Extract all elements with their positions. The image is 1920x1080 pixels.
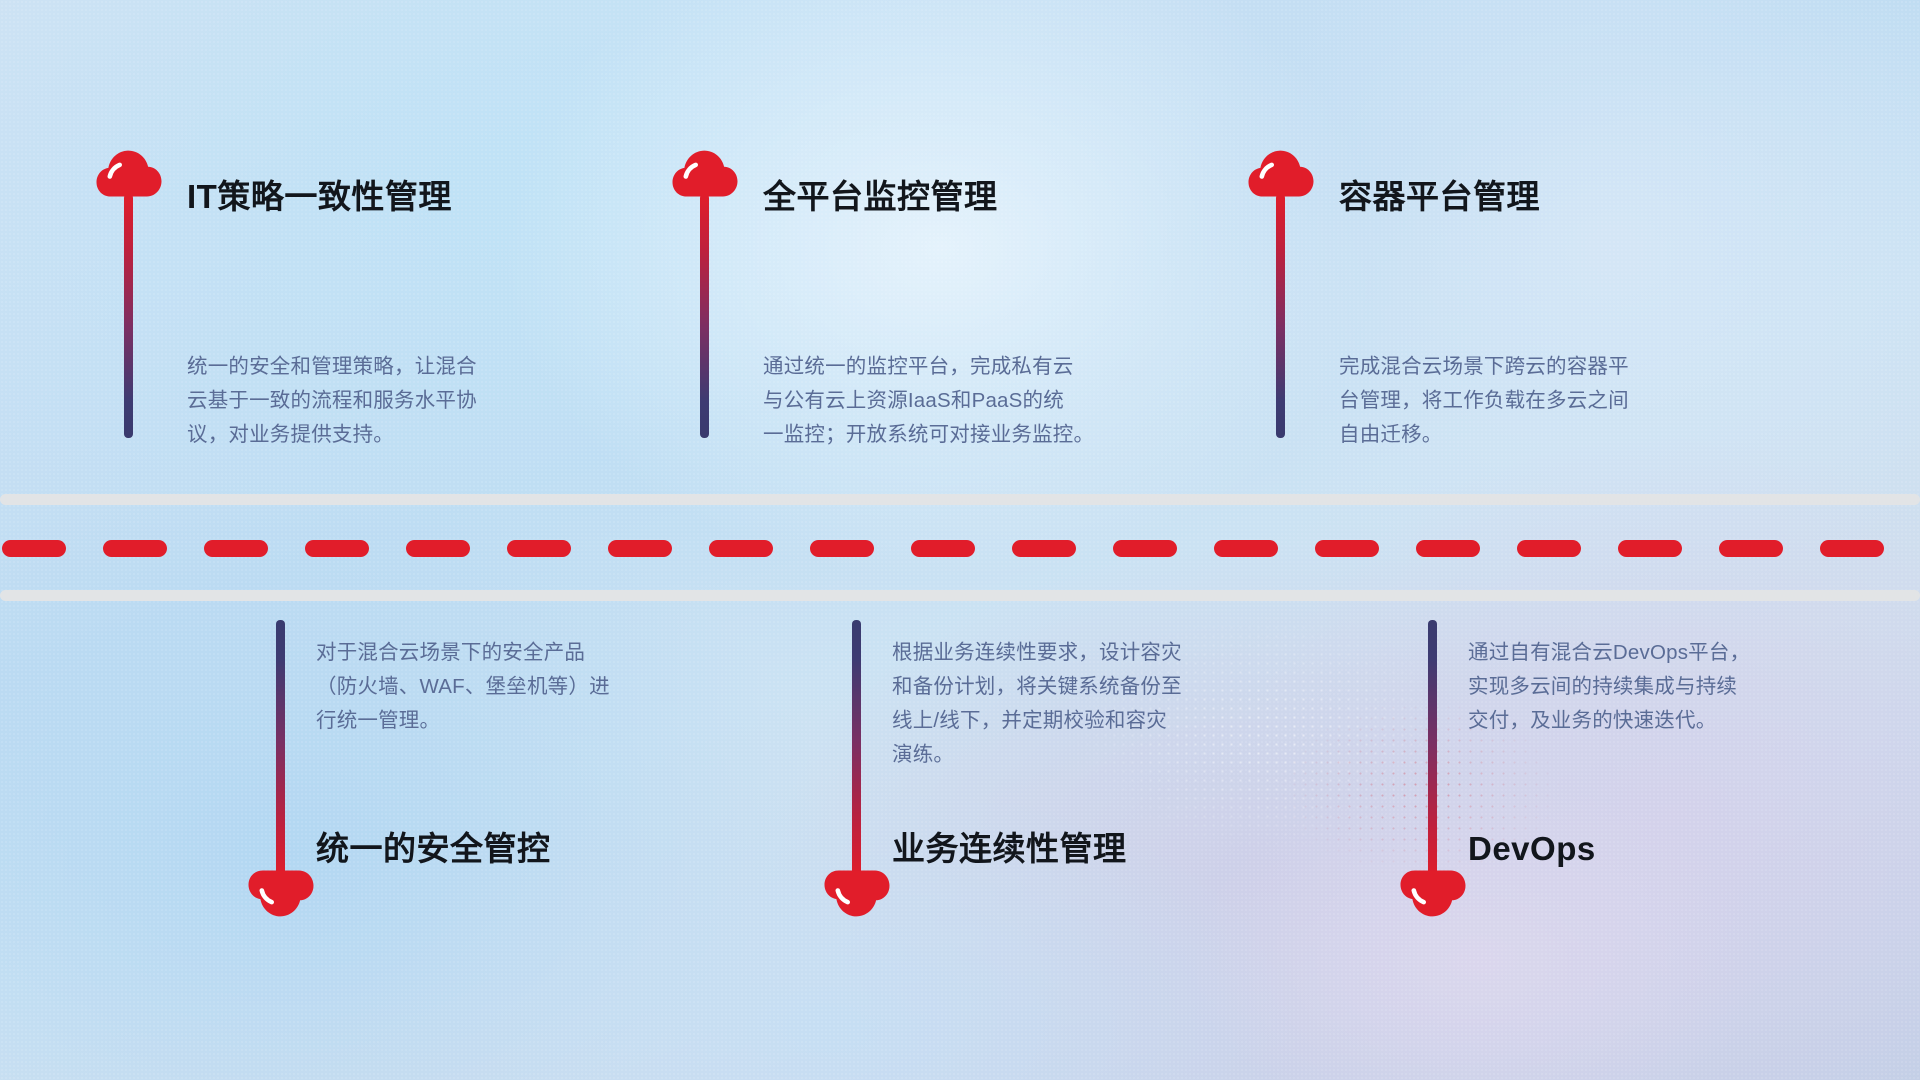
- connector-stem: [852, 620, 861, 878]
- road-dash: [103, 540, 167, 557]
- connector-stem: [700, 194, 709, 438]
- card-body: 统一的安全和管理策略，让混合 云基于一致的流程和服务水平协 议，对业务提供支持。: [187, 350, 627, 452]
- marker-container-platform: [1248, 150, 1328, 197]
- road-dash: [1618, 540, 1682, 557]
- cloud-pin-icon: [824, 870, 890, 917]
- road-dash: [709, 540, 773, 557]
- road-dash: [2, 540, 66, 557]
- road-dash: [507, 540, 571, 557]
- road-dash: [305, 540, 369, 557]
- road-dash: [204, 540, 268, 557]
- card-heading: 业务连续性管理: [892, 832, 1127, 865]
- card-heading: DevOps: [1468, 832, 1596, 865]
- card-body: 对于混合云场景下的安全产品 （防火墙、WAF、堡垒机等）进 行统一管理。: [316, 636, 756, 738]
- road-dash: [810, 540, 874, 557]
- marker-it-policy-consistency: [96, 150, 176, 197]
- connector-stem: [1276, 194, 1285, 438]
- road-dash: [1416, 540, 1480, 557]
- card-body: 根据业务连续性要求，设计容灾 和备份计划，将关键系统备份至 线上/线下，并定期校…: [892, 636, 1332, 772]
- road-line-upper: [0, 494, 1920, 505]
- road-dash: [1719, 540, 1783, 557]
- card-heading: 容器平台管理: [1339, 180, 1540, 213]
- road-dash: [911, 540, 975, 557]
- road-dash: [406, 540, 470, 557]
- road-dash: [1315, 540, 1379, 557]
- cloud-pin-icon: [1248, 150, 1314, 197]
- road-dash: [1517, 540, 1581, 557]
- road-dash: [1820, 540, 1884, 557]
- road-dash: [1214, 540, 1278, 557]
- cloud-pin-icon: [96, 150, 162, 197]
- infographic-canvas: IT策略一致性管理 统一的安全和管理策略，让混合 云基于一致的流程和服务水平协 …: [0, 0, 1920, 1080]
- road-dash-row: [0, 540, 1920, 557]
- road-dash: [1012, 540, 1076, 557]
- card-body: 完成混合云场景下跨云的容器平 台管理，将工作负载在多云之间 自由迁移。: [1339, 350, 1779, 452]
- cloud-pin-icon: [672, 150, 738, 197]
- road-dash: [1113, 540, 1177, 557]
- card-body: 通过统一的监控平台，完成私有云 与公有云上资源IaaS和PaaS的统 一监控；开…: [763, 350, 1233, 452]
- connector-stem: [276, 620, 285, 878]
- card-heading: IT策略一致性管理: [187, 180, 452, 213]
- cloud-pin-icon: [248, 870, 314, 917]
- road-dash: [608, 540, 672, 557]
- connector-stem: [124, 194, 133, 438]
- connector-stem: [1428, 620, 1437, 878]
- card-heading: 统一的安全管控: [316, 832, 551, 865]
- road-line-lower: [0, 590, 1920, 601]
- cloud-pin-icon: [1400, 870, 1466, 917]
- card-heading: 全平台监控管理: [763, 180, 998, 213]
- card-body: 通过自有混合云DevOps平台， 实现多云间的持续集成与持续 交付，及业务的快速…: [1468, 636, 1908, 738]
- marker-full-platform-monitoring: [672, 150, 752, 197]
